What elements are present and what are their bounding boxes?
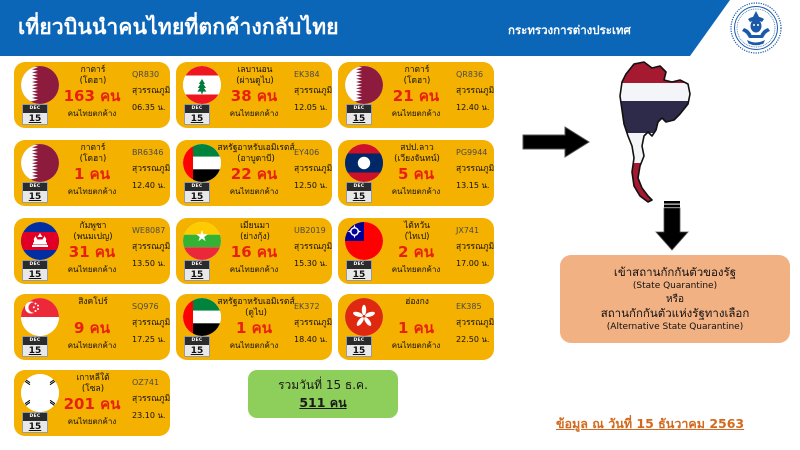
date-badge: DEC 15 <box>346 260 372 281</box>
card-passenger-count: 2 คน <box>374 243 458 261</box>
date-badge-month: DEC <box>185 261 209 269</box>
card-arrival-time: 23.10 น. <box>132 410 170 421</box>
card-airport: สุวรรณภูมิ <box>132 394 170 405</box>
card-flight-number: QR836 <box>456 69 494 80</box>
card-stranded-label: คนไทยตกค้าง <box>372 186 460 197</box>
date-badge: DEC 15 <box>346 182 372 203</box>
flight-card[interactable]: DEC 15 เมียนมา (ย่างกุ้ง) 16 คน คนไทยตกค… <box>176 218 332 284</box>
flight-card[interactable]: DEC 15 กาตาร์ (โดฮา) 21 คน คนไทยตกค้าง Q… <box>338 62 494 128</box>
card-country: กัมพูชา <box>54 221 132 232</box>
card-passenger-count: 22 คน <box>212 165 296 183</box>
card-arrival-time: 12.40 น. <box>456 102 494 113</box>
card-flight-number: OZ741 <box>132 377 170 388</box>
ministry-label: กระทรวงการต่างประเทศ <box>508 22 631 40</box>
date-badge-day: 15 <box>23 113 47 125</box>
card-country: ไต้หวัน <box>378 221 456 232</box>
card-airport: สุวรรณภูมิ <box>132 86 170 97</box>
flight-card[interactable]: DEC 15 กาตาร์ (โดฮา) 163 คน คนไทยตกค้าง … <box>14 62 170 128</box>
card-country: เมียนมา <box>216 221 294 232</box>
date-badge: DEC 15 <box>22 336 48 357</box>
date-badge-month: DEC <box>23 261 47 269</box>
quarantine-en-line1: (State Quarantine) <box>633 280 717 293</box>
date-badge-month: DEC <box>347 183 371 191</box>
flight-card[interactable]: DEC 15 กัมพูชา (พนมเปญ) 31 คน คนไทยตกค้า… <box>14 218 170 284</box>
card-stranded-label: คนไทยตกค้าง <box>48 264 136 275</box>
card-passenger-count: 1 คน <box>212 319 296 337</box>
card-city: (อาบูดาบี) <box>208 154 304 165</box>
card-flight-number: EK385 <box>456 301 494 312</box>
card-passenger-count: 9 คน <box>50 319 134 337</box>
date-badge: DEC 15 <box>184 260 210 281</box>
date-badge-month: DEC <box>185 183 209 191</box>
card-city: (ผ่านดูไบ) <box>216 76 294 87</box>
card-arrival-time: 12.05 น. <box>294 102 332 113</box>
date-badge-month: DEC <box>23 337 47 345</box>
card-flight-number: UB2019 <box>294 225 332 236</box>
card-city: (ย่างกุ้ง) <box>216 232 294 243</box>
card-airport: สุวรรณภูมิ <box>132 242 170 253</box>
daily-total-box: รวมวันที่ 15 ธ.ค. 511 คน <box>248 370 398 418</box>
date-badge-day: 15 <box>347 113 371 125</box>
card-passenger-count: 201 คน <box>50 395 134 413</box>
card-arrival-time: 22.50 น. <box>456 334 494 345</box>
daily-total-value: 511 คน <box>299 394 346 411</box>
date-badge-day: 15 <box>185 191 209 203</box>
page-title: เที่ยวบินนำคนไทยที่ตกค้างกลับไทย <box>18 11 339 44</box>
date-badge: DEC 15 <box>346 104 372 125</box>
date-badge-day: 15 <box>185 269 209 281</box>
card-airport: สุวรรณภูมิ <box>456 86 494 97</box>
date-badge-day: 15 <box>23 269 47 281</box>
card-stranded-label: คนไทยตกค้าง <box>210 186 298 197</box>
card-flight-number: EY406 <box>294 147 332 158</box>
flight-card[interactable]: DEC 15 สปป.ลาว (เวียงจันทน์) 5 คน คนไทยต… <box>338 140 494 206</box>
flight-card[interactable]: DEC 15 ฮ่องกง 1 คน คนไทยตกค้าง EK385 สุว… <box>338 294 494 360</box>
flight-card[interactable]: DEC 15 สหรัฐอาหรับเอมิเรตส์ (ดูไบ) 1 คน … <box>176 294 332 360</box>
date-badge: DEC 15 <box>22 182 48 203</box>
card-stranded-label: คนไทยตกค้าง <box>372 264 460 275</box>
date-badge-month: DEC <box>23 105 47 113</box>
card-arrival-time: 12.40 น. <box>132 180 170 191</box>
card-city: (ดูไบ) <box>208 308 304 319</box>
date-badge-day: 15 <box>185 345 209 357</box>
flight-card[interactable]: DEC 15 สหรัฐอาหรับเอมิเรตส์ (อาบูดาบี) 2… <box>176 140 332 206</box>
data-as-of-note: ข้อมูล ณ วันที่ 15 ธันวาคม 2563 <box>556 414 744 434</box>
card-stranded-label: คนไทยตกค้าง <box>372 340 460 351</box>
quarantine-or-label: หรือ <box>666 293 684 306</box>
thailand-map-flag <box>608 58 708 203</box>
flight-card[interactable]: DEC 15 สิงคโปร์ 9 คน คนไทยตกค้าง SQ976 ส… <box>14 294 170 360</box>
card-city: (โดฮา) <box>54 76 132 87</box>
card-flight-number: WE8087 <box>132 225 170 236</box>
date-badge: DEC 15 <box>22 412 48 433</box>
card-arrival-time: 15.30 น. <box>294 258 332 269</box>
date-badge-month: DEC <box>185 105 209 113</box>
card-country: กาตาร์ <box>378 65 456 76</box>
card-country: สิงคโปร์ <box>54 297 132 308</box>
card-airport: สุวรรณภูมิ <box>294 86 332 97</box>
card-airport: สุวรรณภูมิ <box>456 164 494 175</box>
flight-card[interactable]: DEC 15 เกาหลีใต้ (โซล) 201 คน คนไทยตกค้า… <box>14 370 170 436</box>
card-flight-number: QR830 <box>132 69 170 80</box>
date-badge-month: DEC <box>23 413 47 421</box>
date-badge: DEC 15 <box>184 104 210 125</box>
card-airport: สุวรรณภูมิ <box>456 318 494 329</box>
card-country: สหรัฐอาหรับเอมิเรตส์ <box>208 143 304 154</box>
card-city: (เวียงจันทน์) <box>378 154 456 165</box>
card-country: สหรัฐอาหรับเอมิเรตส์ <box>208 297 304 308</box>
card-city: (โซล) <box>54 384 132 395</box>
card-flight-number: EK384 <box>294 69 332 80</box>
date-badge-month: DEC <box>347 105 371 113</box>
card-flight-number: SQ976 <box>132 301 170 312</box>
date-badge-month: DEC <box>23 183 47 191</box>
card-country: สปป.ลาว <box>378 143 456 154</box>
date-badge-month: DEC <box>185 337 209 345</box>
card-airport: สุวรรณภูมิ <box>294 164 332 175</box>
date-badge: DEC 15 <box>22 260 48 281</box>
quarantine-en-line2: (Alternative State Quarantine) <box>607 321 743 334</box>
card-passenger-count: 5 คน <box>374 165 458 183</box>
card-stranded-label: คนไทยตกค้าง <box>48 108 136 119</box>
card-passenger-count: 21 คน <box>374 87 458 105</box>
date-badge: DEC 15 <box>346 336 372 357</box>
card-stranded-label: คนไทยตกค้าง <box>48 186 136 197</box>
date-badge-day: 15 <box>347 191 371 203</box>
card-stranded-label: คนไทยตกค้าง <box>48 340 136 351</box>
card-arrival-time: 12.50 น. <box>294 180 332 191</box>
date-badge-day: 15 <box>23 345 47 357</box>
date-badge: DEC 15 <box>184 336 210 357</box>
card-country: เลบานอน <box>216 65 294 76</box>
flight-card[interactable]: DEC 15 ไต้หวัน (ไทเป) 2 คน คนไทยตกค้าง J… <box>338 218 494 284</box>
infographic-page: เที่ยวบินนำคนไทยที่ตกค้างกลับไทย กระทรวง… <box>0 0 800 450</box>
date-badge-month: DEC <box>347 337 371 345</box>
date-badge-day: 15 <box>347 269 371 281</box>
card-flight-number: JX741 <box>456 225 494 236</box>
card-city: (โดฮา) <box>378 76 456 87</box>
flight-card[interactable]: DEC 15 เลบานอน (ผ่านดูไบ) 38 คน คนไทยตกค… <box>176 62 332 128</box>
card-airport: สุวรรณภูมิ <box>294 242 332 253</box>
card-arrival-time: 17.25 น. <box>132 334 170 345</box>
card-airport: สุวรรณภูมิ <box>132 318 170 329</box>
card-country: ฮ่องกง <box>378 297 456 308</box>
card-passenger-count: 1 คน <box>374 319 458 337</box>
card-arrival-time: 06.35 น. <box>132 102 170 113</box>
card-arrival-time: 13.15 น. <box>456 180 494 191</box>
card-passenger-count: 31 คน <box>50 243 134 261</box>
flight-card[interactable]: DEC 15 กาตาร์ (โดฮา) 1 คน คนไทยตกค้าง BR… <box>14 140 170 206</box>
date-badge-day: 15 <box>185 113 209 125</box>
card-city: (พนมเปญ) <box>54 232 132 243</box>
card-stranded-label: คนไทยตกค้าง <box>372 108 460 119</box>
card-flight-number: EK372 <box>294 301 332 312</box>
card-stranded-label: คนไทยตกค้าง <box>210 264 298 275</box>
card-city: (ไทเป) <box>378 232 456 243</box>
card-city: (โดฮา) <box>54 154 132 165</box>
card-country: กาตาร์ <box>54 65 132 76</box>
card-passenger-count: 16 คน <box>212 243 296 261</box>
arrow-right-icon <box>521 125 591 159</box>
date-badge-day: 15 <box>23 191 47 203</box>
card-arrival-time: 17.00 น. <box>456 258 494 269</box>
card-airport: สุวรรณภูมิ <box>294 318 332 329</box>
card-stranded-label: คนไทยตกค้าง <box>48 416 136 427</box>
card-passenger-count: 163 คน <box>50 87 134 105</box>
date-badge-month: DEC <box>347 261 371 269</box>
quarantine-th-line1: เข้าสถานกักกันตัวของรัฐ <box>614 265 736 280</box>
date-badge-day: 15 <box>347 345 371 357</box>
card-stranded-label: คนไทยตกค้าง <box>210 340 298 351</box>
card-arrival-time: 13.50 น. <box>132 258 170 269</box>
card-arrival-time: 18.40 น. <box>294 334 332 345</box>
card-passenger-count: 1 คน <box>50 165 134 183</box>
card-stranded-label: คนไทยตกค้าง <box>210 108 298 119</box>
quarantine-th-line2: สถานกักกันตัวแห่งรัฐทางเลือก <box>601 306 750 321</box>
date-badge-day: 15 <box>23 421 47 433</box>
arrow-down-icon <box>655 200 689 252</box>
date-badge: DEC 15 <box>184 182 210 203</box>
card-airport: สุวรรณภูมิ <box>456 242 494 253</box>
ministry-seal-icon <box>730 2 782 54</box>
card-country: กาตาร์ <box>54 143 132 154</box>
quarantine-box: เข้าสถานกักกันตัวของรัฐ (State Quarantin… <box>560 255 790 343</box>
card-flight-number: BR6346 <box>132 147 170 158</box>
card-airport: สุวรรณภูมิ <box>132 164 170 175</box>
card-flight-number: PG9944 <box>456 147 494 158</box>
card-country: เกาหลีใต้ <box>54 373 132 384</box>
daily-total-label: รวมวันที่ 15 ธ.ค. <box>278 377 368 394</box>
card-passenger-count: 38 คน <box>212 87 296 105</box>
date-badge: DEC 15 <box>22 104 48 125</box>
